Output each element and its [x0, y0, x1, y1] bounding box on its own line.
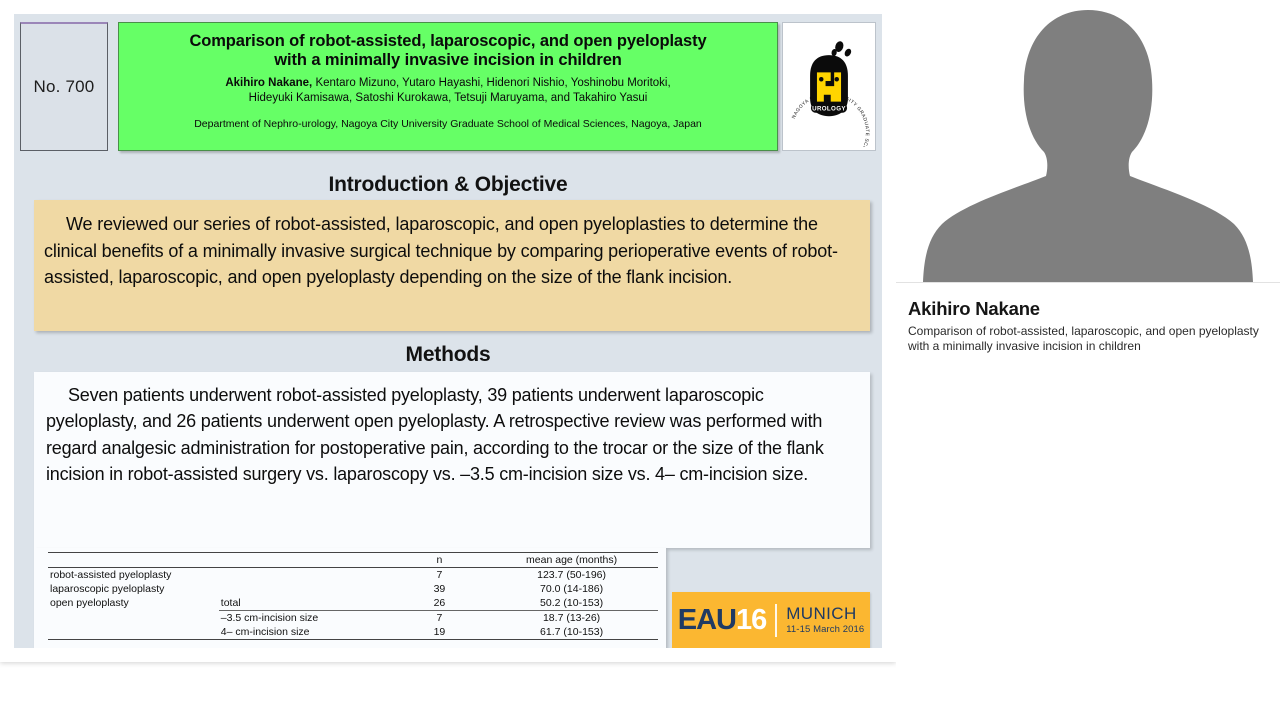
table-header-cell-0 — [48, 553, 219, 568]
table-row: open pyeloplasty total 26 50.2 (10-153) — [48, 596, 658, 611]
table-cell-n: 39 — [394, 582, 486, 596]
poster-title-line-1: Comparison of robot-assisted, laparoscop… — [127, 32, 769, 51]
lead-author: Akihiro Nakane, — [225, 77, 312, 89]
table-row: 4– cm-incision size 19 61.7 (10-153) — [48, 625, 658, 640]
poster-number-label: No. 700 — [34, 77, 95, 97]
university-logo-box: NAGOYA CITY UNIVERSITY GRADUATE SCHOOL O… — [782, 22, 876, 151]
table-cell-mean-age: 70.0 (14-186) — [485, 582, 658, 596]
table-cell-group — [48, 625, 219, 640]
poster-canvas: No. 700 Comparison of robot-assisted, la… — [14, 14, 882, 648]
poster-affiliation: Department of Nephro-urology, Nagoya Cit… — [127, 118, 769, 130]
table-header-cell-n: n — [394, 553, 486, 568]
avatar — [896, 0, 1280, 283]
table-cell-sub: total — [219, 596, 394, 611]
table-header-cell-1 — [219, 553, 394, 568]
table-row: robot-assisted pyeloplasty 7 123.7 (50-1… — [48, 568, 658, 583]
eau-wordmark: EAU16 — [678, 606, 767, 635]
table-cell-mean-age: 123.7 (50-196) — [485, 568, 658, 583]
patient-summary-table-box: n mean age (months) robot-assisted pyelo… — [34, 548, 666, 648]
introduction-content-box: We reviewed our series of robot-assisted… — [34, 200, 870, 331]
table-cell-n: 7 — [394, 611, 486, 626]
svg-text:UROLOGY: UROLOGY — [812, 105, 846, 112]
poster-title-banner: Comparison of robot-assisted, laparoscop… — [118, 22, 778, 151]
table-cell-group: open pyeloplasty — [48, 596, 219, 611]
eau-year-text: 16 — [736, 604, 766, 636]
introduction-body-text: We reviewed our series of robot-assisted… — [44, 211, 856, 291]
coauthors-rest: Kentaro Mizuno, Yutaro Hayashi, Hidenori… — [312, 77, 670, 89]
table-cell-group: laparoscopic pyeloplasty — [48, 582, 219, 596]
poster-viewer[interactable]: No. 700 Comparison of robot-assisted, la… — [0, 0, 896, 662]
table-cell-group — [48, 611, 219, 626]
poster-title-line-2: with a minimally invasive incision in ch… — [127, 51, 769, 70]
section-heading-introduction: Introduction & Objective — [14, 173, 882, 197]
table-row: –3.5 cm-incision size 7 18.7 (13-26) — [48, 611, 658, 626]
table-cell-mean-age: 18.7 (13-26) — [485, 611, 658, 626]
table-cell-sub — [219, 582, 394, 596]
table-header-cell-mean-age: mean age (months) — [485, 553, 658, 568]
eau16-congress-logo: EAU16 MUNICH 11-15 March 2016 — [672, 592, 870, 648]
methods-body-text: Seven patients underwent robot-assisted … — [46, 382, 856, 487]
section-heading-methods: Methods — [14, 343, 882, 367]
speaker-info: Akihiro Nakane Comparison of robot-assis… — [896, 290, 1280, 355]
eau-city-text: MUNICH — [786, 605, 864, 623]
table-cell-group: robot-assisted pyeloplasty — [48, 568, 219, 583]
patient-summary-table: n mean age (months) robot-assisted pyelo… — [48, 552, 658, 640]
poster-authors-line-2: Hideyuki Kamisawa, Satoshi Kurokawa, Tet… — [127, 91, 769, 106]
eau-divider — [775, 604, 777, 637]
person-silhouette-icon — [896, 0, 1280, 282]
methods-content-box: Seven patients underwent robot-assisted … — [34, 372, 870, 548]
poster-number-box: No. 700 — [20, 22, 108, 151]
poster-title: Comparison of robot-assisted, laparoscop… — [127, 32, 769, 71]
eau-dates-text: 11-15 March 2016 — [786, 625, 864, 635]
table-cell-n: 19 — [394, 625, 486, 640]
poster-authors: Akihiro Nakane, Kentaro Mizuno, Yutaro H… — [127, 76, 769, 106]
table-cell-mean-age: 61.7 (10-153) — [485, 625, 658, 640]
poster-authors-line-1: Akihiro Nakane, Kentaro Mizuno, Yutaro H… — [127, 76, 769, 91]
table-row: laparoscopic pyeloplasty 39 70.0 (14-186… — [48, 582, 658, 596]
table-header-row: n mean age (months) — [48, 553, 658, 568]
table-cell-n: 7 — [394, 568, 486, 583]
app-root: No. 700 Comparison of robot-assisted, la… — [0, 0, 1280, 720]
nagoya-urology-logo-icon: NAGOYA CITY UNIVERSITY GRADUATE SCHOOL O… — [786, 27, 872, 147]
table-cell-n: 26 — [394, 596, 486, 611]
table-cell-mean-age: 50.2 (10-153) — [485, 596, 658, 611]
poster-header: No. 700 Comparison of robot-assisted, la… — [20, 18, 876, 154]
speaker-talk-title: Comparison of robot-assisted, laparoscop… — [908, 324, 1268, 355]
table-cell-sub — [219, 568, 394, 583]
table-cell-sub: 4– cm-incision size — [219, 625, 394, 640]
speaker-name: Akihiro Nakane — [908, 298, 1268, 320]
eau-brand-text: EAU — [678, 604, 736, 636]
table-cell-sub: –3.5 cm-incision size — [219, 611, 394, 626]
speaker-panel: Akihiro Nakane Comparison of robot-assis… — [896, 0, 1280, 720]
